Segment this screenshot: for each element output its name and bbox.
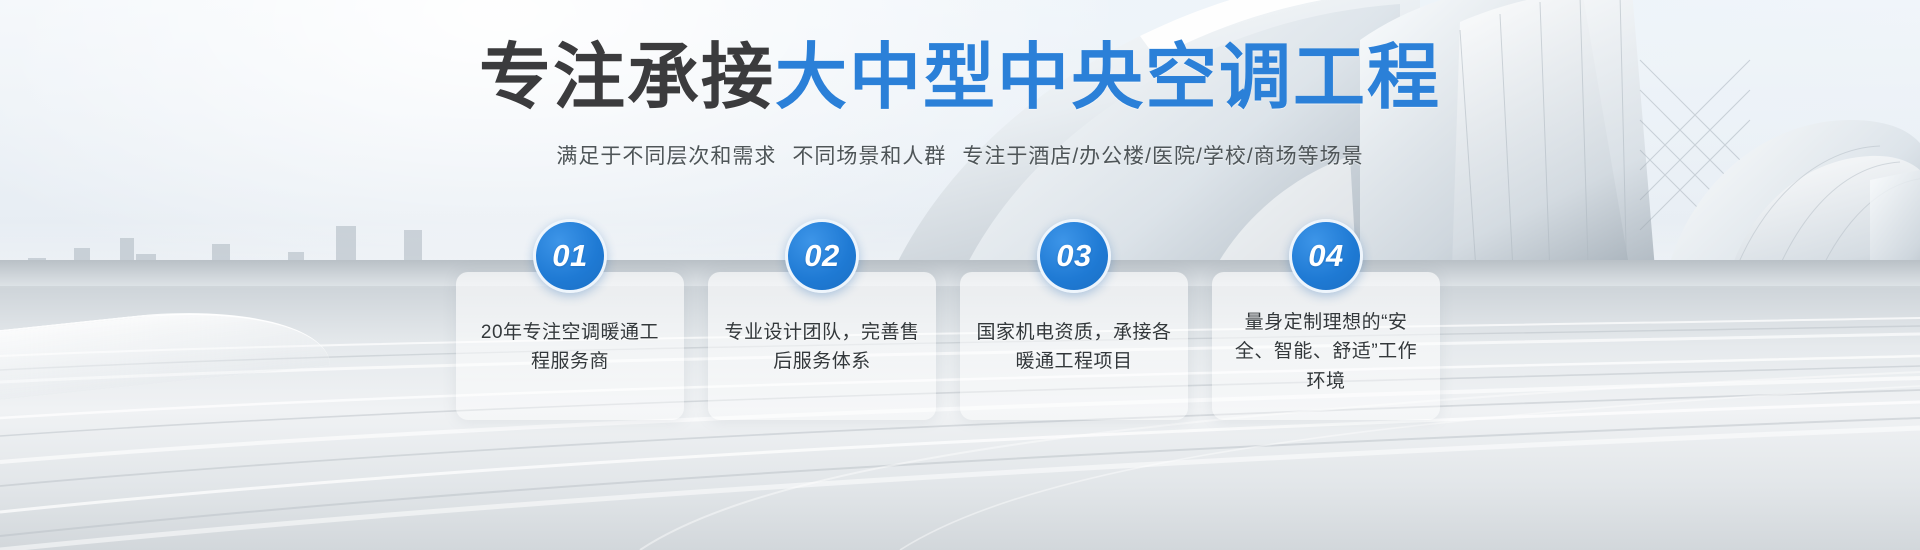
badge-number: 01 [552, 238, 587, 274]
subtitle-part-3: 专注于酒店/办公楼/医院/学校/商场等场景 [962, 145, 1363, 168]
badge-number: 02 [804, 238, 839, 274]
feature-card[interactable]: 02 专业设计团队，完善售后服务体系 [708, 272, 936, 420]
feature-card-text: 量身定制理想的“安全、智能、舒适”工作环境 [1228, 308, 1424, 396]
badge-number: 04 [1308, 238, 1343, 274]
badge-number: 03 [1056, 238, 1091, 274]
hero-banner: 专注承接大中型中央空调工程 满足于不同层次和需求不同场景和人群专注于酒店/办公楼… [0, 0, 1920, 550]
subtitle-part-2: 不同场景和人群 [792, 145, 946, 168]
feature-card[interactable]: 04 量身定制理想的“安全、智能、舒适”工作环境 [1212, 272, 1440, 420]
number-badge-icon: 01 [533, 219, 607, 293]
feature-card-text: 专业设计团队，完善售后服务体系 [724, 318, 920, 377]
feature-card-text: 国家机电资质，承接各暖通工程项目 [976, 318, 1172, 377]
number-badge-icon: 03 [1037, 219, 1111, 293]
feature-card[interactable]: 03 国家机电资质，承接各暖通工程项目 [960, 272, 1188, 420]
number-badge-icon: 04 [1289, 219, 1363, 293]
page-title: 专注承接大中型中央空调工程 [0, 42, 1920, 114]
feature-card-list: 01 20年专注空调暖通工程服务商 02 专业设计团队，完善售后服务体系 03 … [456, 272, 1464, 420]
headline-block: 专注承接大中型中央空调工程 满足于不同层次和需求不同场景和人群专注于酒店/办公楼… [0, 42, 1920, 170]
number-badge-icon: 02 [785, 219, 859, 293]
headline-dark-text: 专注承接 [479, 38, 775, 118]
headline-blue-text: 大中型中央空调工程 [775, 38, 1441, 118]
feature-card-text: 20年专注空调暖通工程服务商 [472, 318, 668, 377]
feature-card[interactable]: 01 20年专注空调暖通工程服务商 [456, 272, 684, 420]
page-subtitle: 满足于不同层次和需求不同场景和人群专注于酒店/办公楼/医院/学校/商场等场景 [0, 140, 1920, 170]
subtitle-part-1: 满足于不同层次和需求 [556, 145, 776, 168]
